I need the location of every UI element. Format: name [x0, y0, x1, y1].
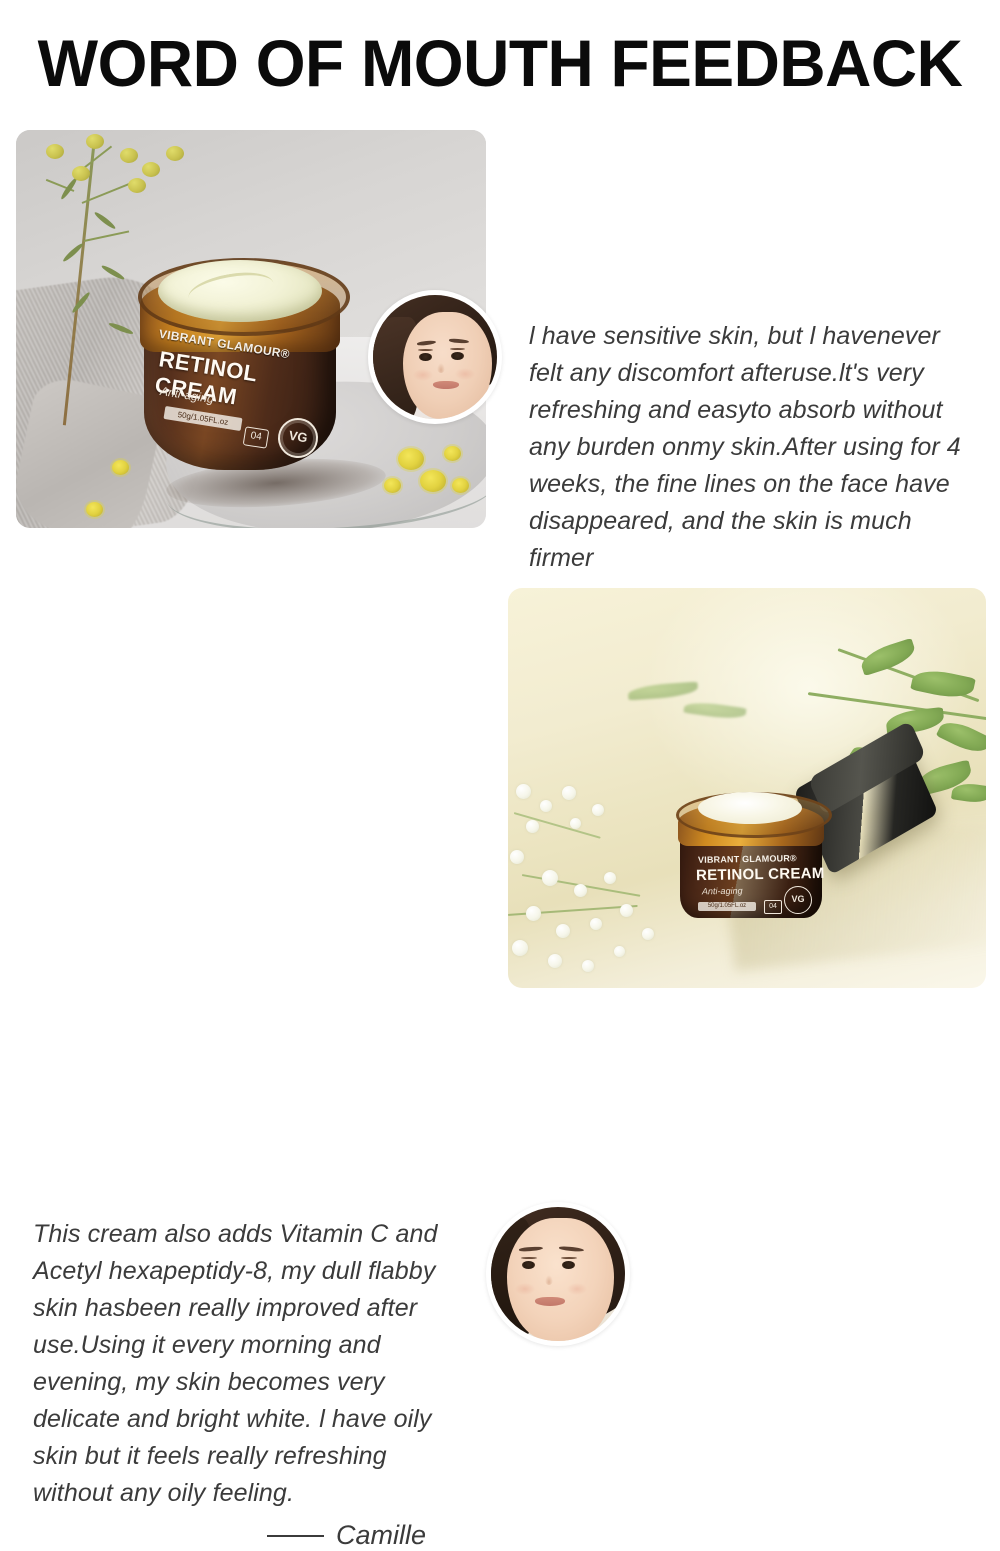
- babys-breath-floret: [642, 928, 654, 940]
- eye-right: [562, 1261, 575, 1269]
- babys-breath-floret: [604, 872, 616, 884]
- attribution-dash: [267, 1535, 324, 1537]
- retinol-cream-jar: VIBRANT GLAMOUR® RETINOL CREAM Anti-agin…: [676, 778, 826, 918]
- eyelid-left: [521, 1257, 537, 1259]
- face: [373, 295, 497, 419]
- flower-bud: [46, 144, 64, 159]
- jar-badge-04: 04: [764, 900, 782, 914]
- flower-bud: [166, 146, 184, 161]
- avatar-camille: [486, 1202, 630, 1346]
- eye-left: [419, 353, 432, 361]
- yellow-flower: [112, 460, 129, 475]
- face-skin: [403, 312, 492, 419]
- product-photo-jar-with-lid: VIBRANT GLAMOUR® RETINOL CREAM Anti-agin…: [508, 588, 986, 988]
- jar-vg-seal: VG: [784, 886, 812, 914]
- avatar-becky: [368, 290, 502, 424]
- babys-breath-floret: [556, 924, 570, 938]
- yellow-flower: [444, 446, 461, 461]
- babys-breath-floret: [526, 820, 539, 833]
- jar-product-name: RETINOL CREAM: [696, 865, 825, 884]
- babys-breath-floret: [548, 954, 562, 968]
- flower-bud: [120, 148, 138, 163]
- yellow-flower: [452, 478, 469, 493]
- eyelid-left: [418, 349, 433, 351]
- nose: [437, 363, 445, 373]
- babys-breath-floret: [510, 850, 524, 864]
- babys-breath-floret: [570, 818, 581, 829]
- jar-badge-04: 04: [243, 426, 270, 449]
- babys-breath-floret: [620, 904, 633, 917]
- testimonial-camille: This cream also adds Vitamin C and Acety…: [0, 570, 1000, 1000]
- eye-left: [522, 1261, 535, 1269]
- flower-bud: [128, 178, 146, 193]
- yellow-flower: [384, 478, 401, 493]
- mouth-smiling: [535, 1297, 565, 1306]
- babys-breath-floret: [542, 870, 558, 886]
- blush-right: [455, 368, 475, 380]
- babys-breath-floret: [574, 884, 587, 897]
- babys-breath-floret: [614, 946, 625, 957]
- blush-left: [515, 1283, 535, 1295]
- flower-bud: [142, 162, 160, 177]
- blush-right: [567, 1283, 587, 1295]
- cream-surface: [698, 792, 802, 824]
- page-title: WORD OF MOUTH FEEDBACK: [15, 28, 985, 98]
- babys-breath-floret: [562, 786, 576, 800]
- nose: [545, 1275, 553, 1285]
- jar-subtitle: Anti-aging: [702, 886, 743, 897]
- eyelid-right: [450, 348, 465, 350]
- eye-right: [451, 352, 464, 360]
- jar-size-label: 50g/1.05FL.oz: [698, 902, 756, 911]
- face-skin: [507, 1218, 614, 1341]
- testimonial-quote: This cream also adds Vitamin C and Acety…: [33, 1216, 453, 1512]
- retinol-cream-jar: VIBRANT GLAMOUR® RETINOL CREAM Anti-agin…: [136, 228, 344, 480]
- babys-breath-floret: [526, 906, 541, 921]
- yellow-flower: [398, 448, 424, 470]
- face: [491, 1207, 625, 1341]
- testimonial-quote: l have sensitive skin, but l havenever f…: [529, 318, 969, 577]
- babys-breath-floret: [582, 960, 594, 972]
- babys-breath-floret: [516, 784, 531, 799]
- babys-breath-floret: [512, 940, 528, 956]
- eyelid-right: [561, 1257, 577, 1259]
- author-name: Camille: [336, 1520, 426, 1551]
- testimonial-attribution: Camille: [267, 1520, 426, 1551]
- jar-brand-label: VIBRANT GLAMOUR®: [698, 853, 797, 865]
- testimonial-becky: VIBRANT GLAMOUR® RETINOL CREAM Anti-agin…: [0, 110, 1000, 560]
- flower-bud: [86, 134, 104, 149]
- blush-left: [413, 369, 433, 381]
- babys-breath-floret: [592, 804, 604, 816]
- flower-bud: [72, 166, 90, 181]
- yellow-flower: [420, 470, 446, 492]
- mouth-smiling: [433, 381, 459, 389]
- babys-breath-floret: [540, 800, 552, 812]
- babys-breath-floret: [590, 918, 602, 930]
- yellow-flower: [86, 502, 103, 517]
